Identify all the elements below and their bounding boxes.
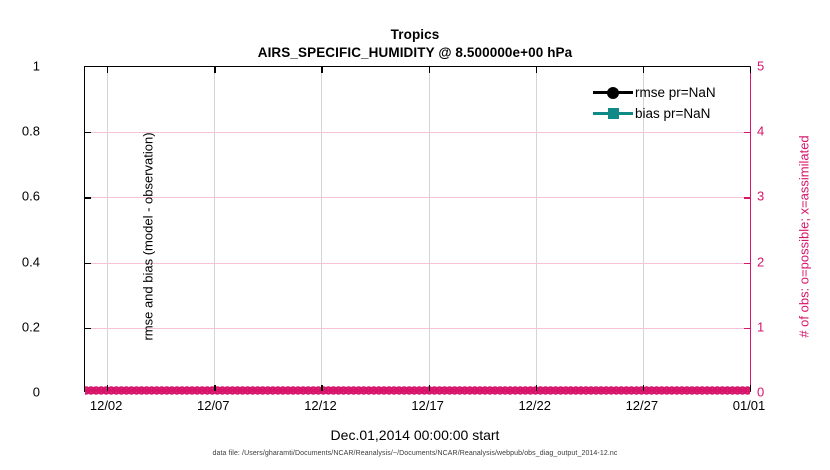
y-axis-tick-label-right: 2 — [757, 254, 797, 269]
x-axis-tick-label: 12/02 — [66, 398, 146, 413]
y-axis-tick-left — [85, 197, 91, 198]
y-axis-tick-label-left: 0.2 — [0, 319, 40, 334]
x-axis-tick — [643, 385, 644, 391]
x-axis-tick-top — [429, 67, 430, 73]
x-axis-tick-top — [536, 67, 537, 73]
y-axis-tick-left — [85, 328, 91, 329]
y-axis-tick-label-left: 0.8 — [0, 124, 40, 139]
y-axis-tick-right — [744, 132, 750, 133]
gridline-horizontal — [85, 263, 750, 264]
page-title: Tropics — [0, 26, 830, 44]
x-axis-tick-top — [321, 67, 322, 73]
chart-title-block: Tropics AIRS_SPECIFIC_HUMIDITY @ 8.50000… — [0, 26, 830, 62]
y-axis-tick-right — [744, 328, 750, 329]
x-axis-tick-top — [107, 67, 108, 73]
x-axis-tick-top — [750, 67, 751, 73]
x-axis-tick-label: 12/27 — [602, 398, 682, 413]
y-axis-tick-label-right: 5 — [757, 59, 797, 74]
y-axis-tick-label-right: 4 — [757, 124, 797, 139]
y-axis-label-right: # of obs: o=possible; x=assimilated — [797, 67, 812, 407]
x-axis-tick-label: 12/12 — [280, 398, 360, 413]
x-axis-tick — [429, 385, 430, 391]
y-axis-tick-label-right: 0 — [757, 385, 797, 400]
y-axis-label-left: rmse and bias (model - observation) — [141, 67, 156, 407]
y-axis-tick-label-left: 0.6 — [0, 189, 40, 204]
x-axis-tick — [107, 385, 108, 391]
legend-marker-square-icon — [592, 105, 634, 123]
x-axis-tick-label: 12/17 — [388, 398, 468, 413]
x-axis-tick — [214, 385, 215, 391]
x-axis-tick — [321, 385, 322, 391]
x-axis-tick-top — [643, 67, 644, 73]
x-axis-tick-label: 12/07 — [173, 398, 253, 413]
legend-item-bias[interactable]: bias pr=NaN — [592, 103, 716, 124]
gridline-vertical — [429, 67, 430, 391]
y-axis-tick-left — [85, 263, 91, 264]
chart-legend: rmse pr=NaN bias pr=NaN — [592, 82, 716, 124]
obs-marker-band — [85, 384, 750, 397]
gridline-horizontal — [85, 197, 750, 198]
x-axis-tick-label: 01/01 — [709, 398, 789, 413]
y-axis-tick-left — [85, 132, 91, 133]
chart-subtitle: AIRS_SPECIFIC_HUMIDITY @ 8.500000e+00 hP… — [0, 44, 830, 62]
y-axis-tick-label-left: 1 — [0, 59, 40, 74]
y-axis-tick-label-right: 1 — [757, 319, 797, 334]
y-axis-tick-label-left: 0 — [0, 385, 40, 400]
gridline-vertical — [536, 67, 537, 391]
y-axis-tick-right — [744, 263, 750, 264]
gridline-vertical — [321, 67, 322, 391]
legend-label-rmse: rmse pr=NaN — [634, 85, 716, 100]
gridline-horizontal — [85, 132, 750, 133]
legend-item-rmse[interactable]: rmse pr=NaN — [592, 82, 716, 103]
x-axis-label: Dec.01,2014 00:00:00 start — [0, 427, 830, 443]
legend-label-bias: bias pr=NaN — [634, 106, 710, 121]
y-axis-tick-right — [744, 197, 750, 198]
x-axis-tick-label: 12/22 — [495, 398, 575, 413]
x-axis-tick — [536, 385, 537, 391]
gridline-vertical — [214, 67, 215, 391]
x-axis-tick — [750, 385, 751, 391]
x-axis-tick-top — [214, 67, 215, 73]
data-file-caption: data file: /Users/gharamti/Documents/NCA… — [0, 450, 830, 457]
y-axis-tick-label-right: 3 — [757, 189, 797, 204]
gridline-horizontal — [85, 328, 750, 329]
y-axis-tick-label-left: 0.4 — [0, 254, 40, 269]
legend-marker-circle-icon — [592, 84, 634, 102]
gridline-vertical — [107, 67, 108, 391]
